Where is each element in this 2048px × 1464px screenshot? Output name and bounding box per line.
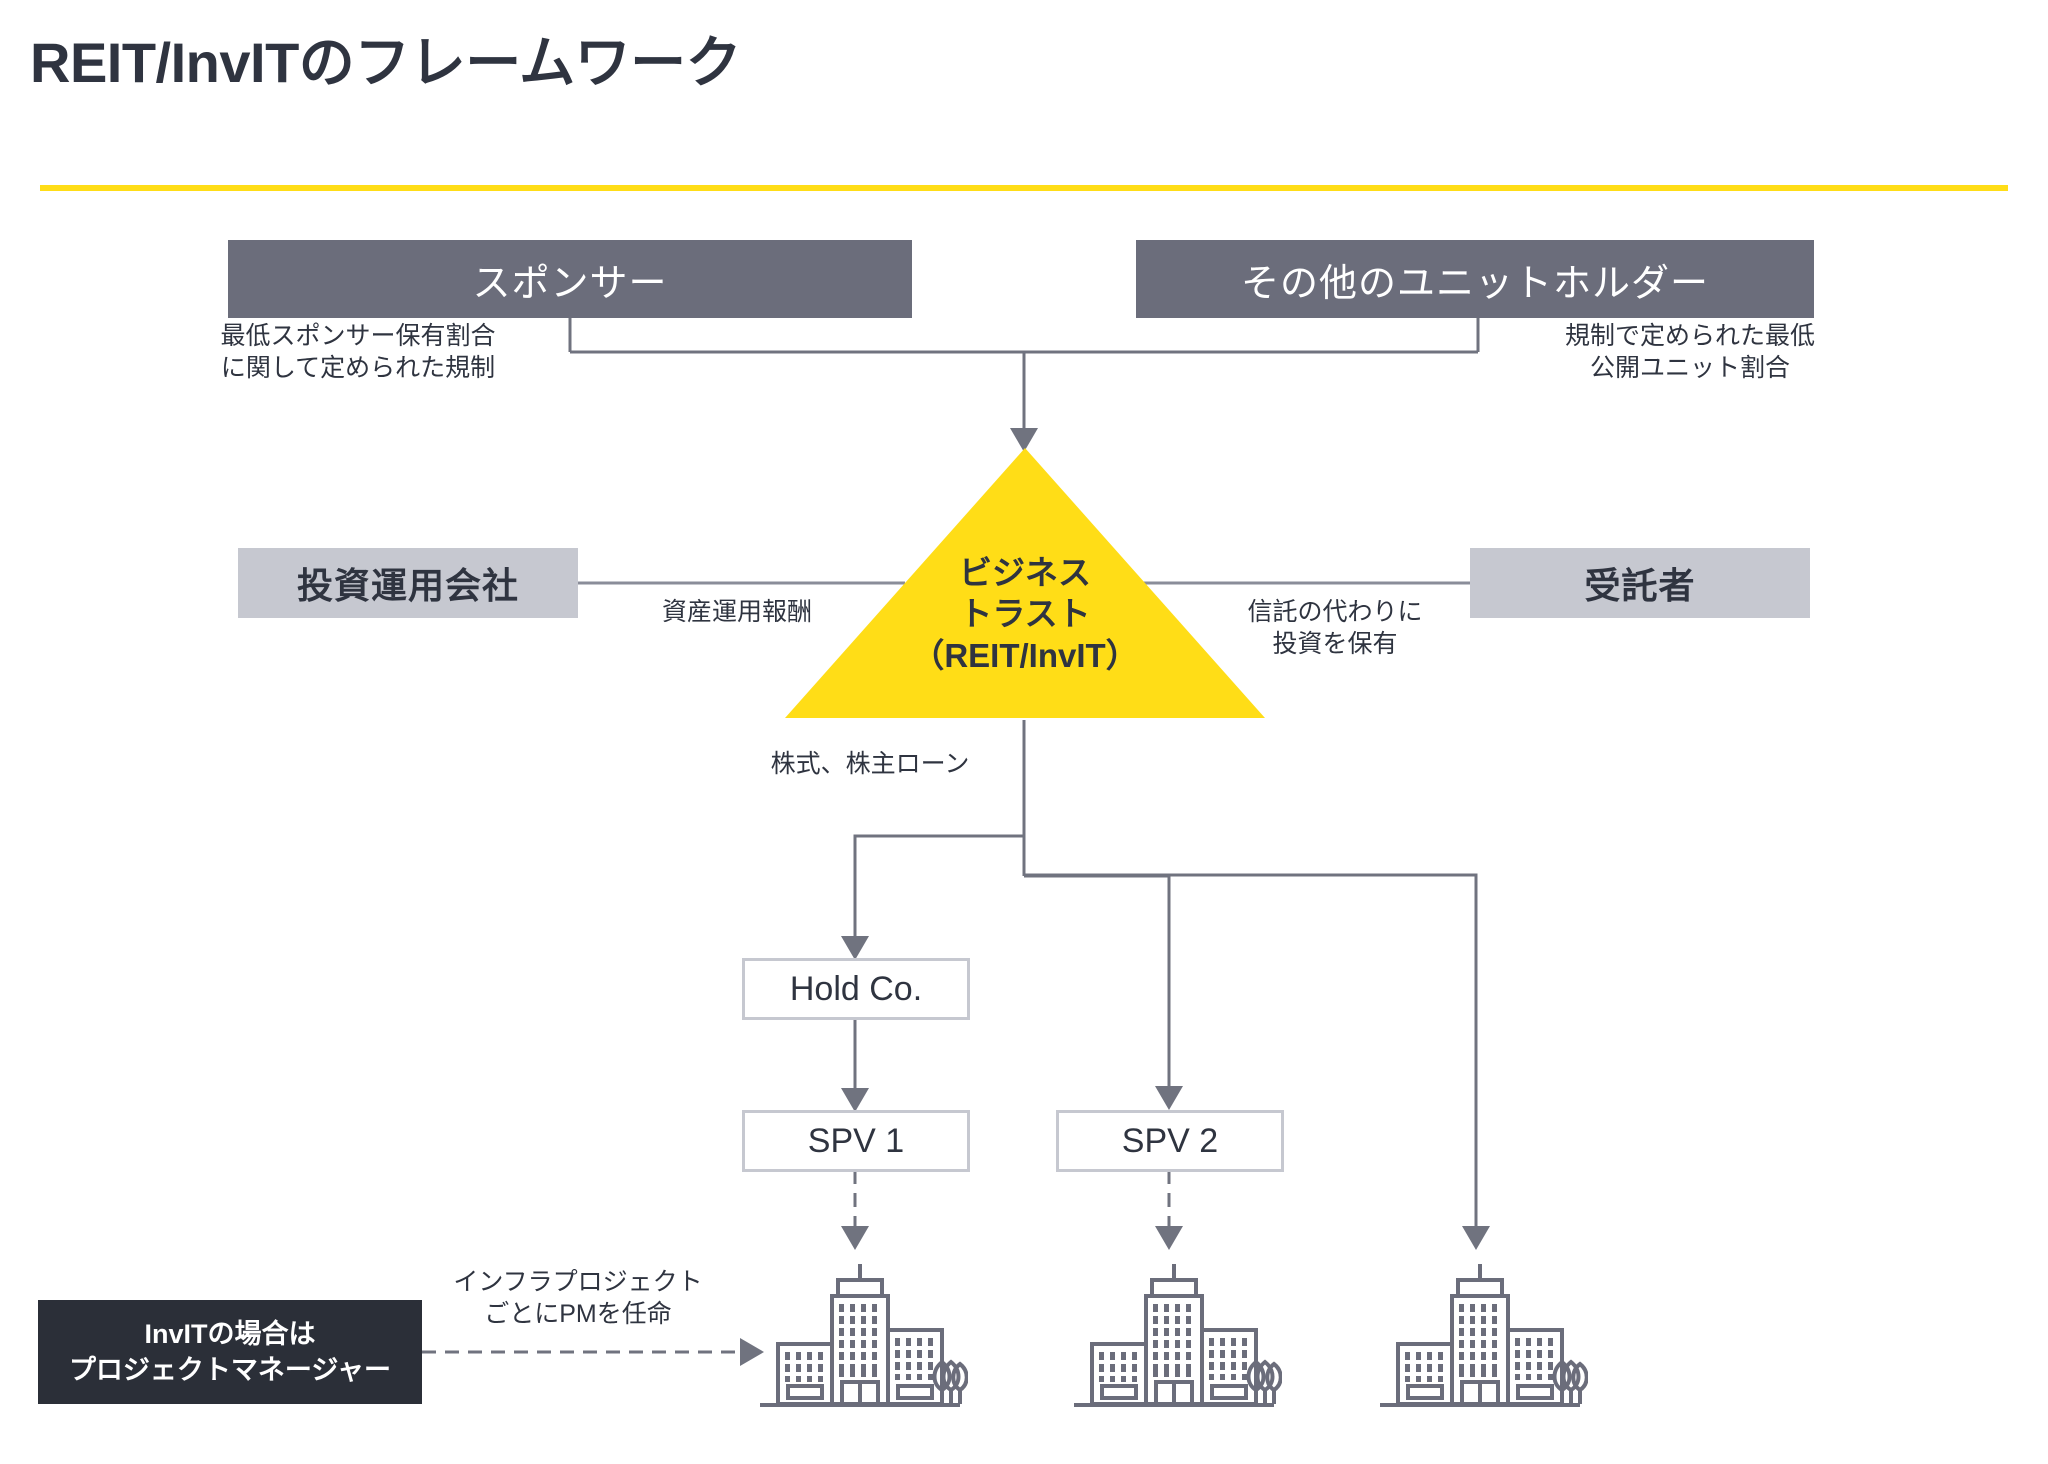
investment-manager-box[interactable]: 投資運用会社 — [238, 548, 578, 618]
building-1-icon — [752, 1258, 968, 1418]
asset-management-fee-caption: 資産運用報酬 — [592, 596, 882, 628]
sponsor-label: スポンサー — [472, 252, 667, 307]
trustee-label: 受託者 — [1584, 557, 1695, 609]
project-manager-label: InvITの場合は プロジェクトマネージャー — [69, 1316, 391, 1389]
spv2-box[interactable]: SPV 2 — [1056, 1110, 1284, 1172]
hold-co-box[interactable]: Hold Co. — [742, 958, 970, 1020]
trustee-box[interactable]: 受託者 — [1470, 548, 1810, 618]
building-2-icon — [1066, 1258, 1282, 1418]
other-unitholders-box[interactable]: その他のユニットホルダー — [1136, 240, 1814, 318]
spv1-box[interactable]: SPV 1 — [742, 1110, 970, 1172]
connector-lines — [0, 0, 2048, 1464]
business-trust-triangle[interactable]: ビジネス トラスト （REIT/InvIT） — [785, 448, 1265, 718]
equity-loan-caption: 株式、株主ローン — [720, 748, 1020, 780]
pm-appointment-caption: インフラプロジェクト ごとにPMを任命 — [418, 1266, 738, 1330]
spv1-label: SPV 1 — [808, 1122, 904, 1161]
trustee-holding-caption: 信託の代わりに 投資を保有 — [1200, 596, 1470, 660]
other-unitholders-label: その他のユニットホルダー — [1241, 252, 1709, 307]
hold-co-label: Hold Co. — [790, 970, 922, 1009]
investment-manager-label: 投資運用会社 — [297, 557, 519, 609]
spv2-label: SPV 2 — [1122, 1122, 1218, 1161]
sponsor-box[interactable]: スポンサー — [228, 240, 912, 318]
sponsor-rule-caption: 最低スポンサー保有割合 に関して定められた規制 — [168, 320, 548, 384]
building-3-icon — [1372, 1258, 1588, 1418]
diagram-canvas: REIT/InvITのフレームワーク — [0, 0, 2048, 1464]
project-manager-box[interactable]: InvITの場合は プロジェクトマネージャー — [38, 1300, 422, 1404]
unitholder-rule-caption: 規制で定められた最低 公開ユニット割合 — [1510, 320, 1870, 384]
